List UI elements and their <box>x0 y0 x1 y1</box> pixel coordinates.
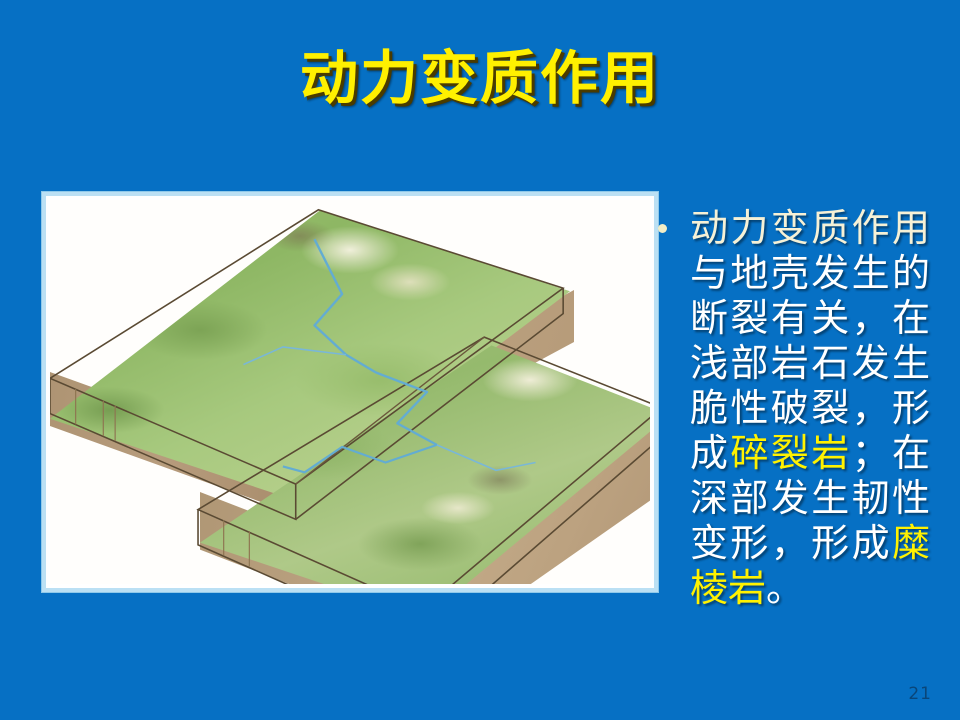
slide-canvas: 动力变质作用 <box>0 0 960 720</box>
body-paragraph: 动力变质作用与地壳发生的断裂有关，在浅部岩石发生脆性破裂，形成碎裂岩；在深部发生… <box>690 206 930 611</box>
front-block-left-wall-outline <box>198 510 423 584</box>
bullet-marker <box>658 224 667 233</box>
river-downstream <box>283 445 437 472</box>
body-text-segment-5: 。 <box>766 566 804 610</box>
page-title: 动力变质作用 <box>0 48 960 109</box>
back-block-right-wall-outline <box>296 288 563 519</box>
diagram-canvas <box>50 200 650 584</box>
front-block-top-outline <box>198 337 650 584</box>
back-block-top-outline <box>50 210 563 484</box>
front-block-right-wall-outline <box>423 408 650 584</box>
body-text-segment-0: 动力变质作用 <box>690 206 930 250</box>
river-tributary <box>437 445 536 470</box>
back-block-left-wall-outline <box>50 378 296 519</box>
body-text-segment-2: 碎裂岩 <box>730 431 851 475</box>
river-tributary <box>243 347 346 365</box>
page-number: 21 <box>908 684 932 704</box>
diagram-overlay <box>50 200 650 584</box>
diagram-frame <box>42 192 658 592</box>
